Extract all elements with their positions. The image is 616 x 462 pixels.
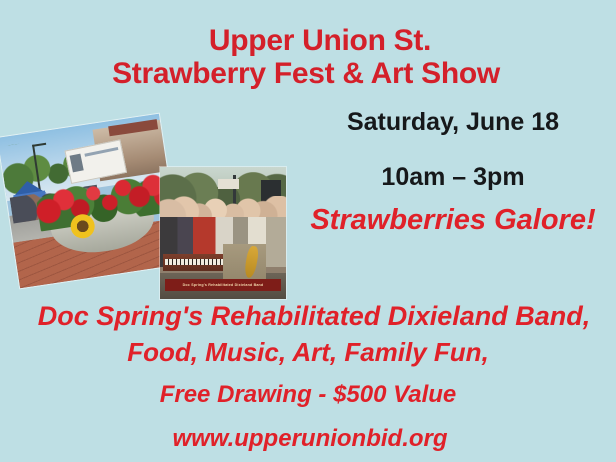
website-url[interactable]: www.upperunionbid.org	[2, 425, 616, 453]
event-time: 10am – 3pm	[293, 163, 613, 192]
street-fair-flower-planter-photo	[0, 114, 181, 288]
band-photo-caption-bar: Doc Spring's Rehabilitated Dixieland Ban…	[165, 279, 281, 291]
event-tagline: Strawberries Galore!	[293, 204, 613, 237]
band-billing: Doc Spring's Rehabilitated Dixieland Ban…	[6, 301, 616, 332]
page-title-line-1: Upper Union St.	[12, 24, 616, 58]
band-photo-piano-keys	[165, 259, 223, 264]
activities-list: Food, Music, Art, Family Fun,	[0, 337, 616, 368]
free-drawing-note: Free Drawing - $500 Value	[0, 381, 616, 409]
dixieland-band-photo: Doc Spring's Rehabilitated Dixieland Ban…	[160, 167, 286, 299]
event-date: Saturday, June 18	[293, 108, 613, 137]
band-photo-banner	[218, 179, 239, 190]
page-title-line-2: Strawberry Fest & Art Show	[0, 57, 614, 91]
event-flyer: Upper Union St. Strawberry Fest & Art Sh…	[0, 0, 616, 462]
band-photo-caption-text: Doc Spring's Rehabilitated Dixieland Ban…	[183, 283, 264, 287]
